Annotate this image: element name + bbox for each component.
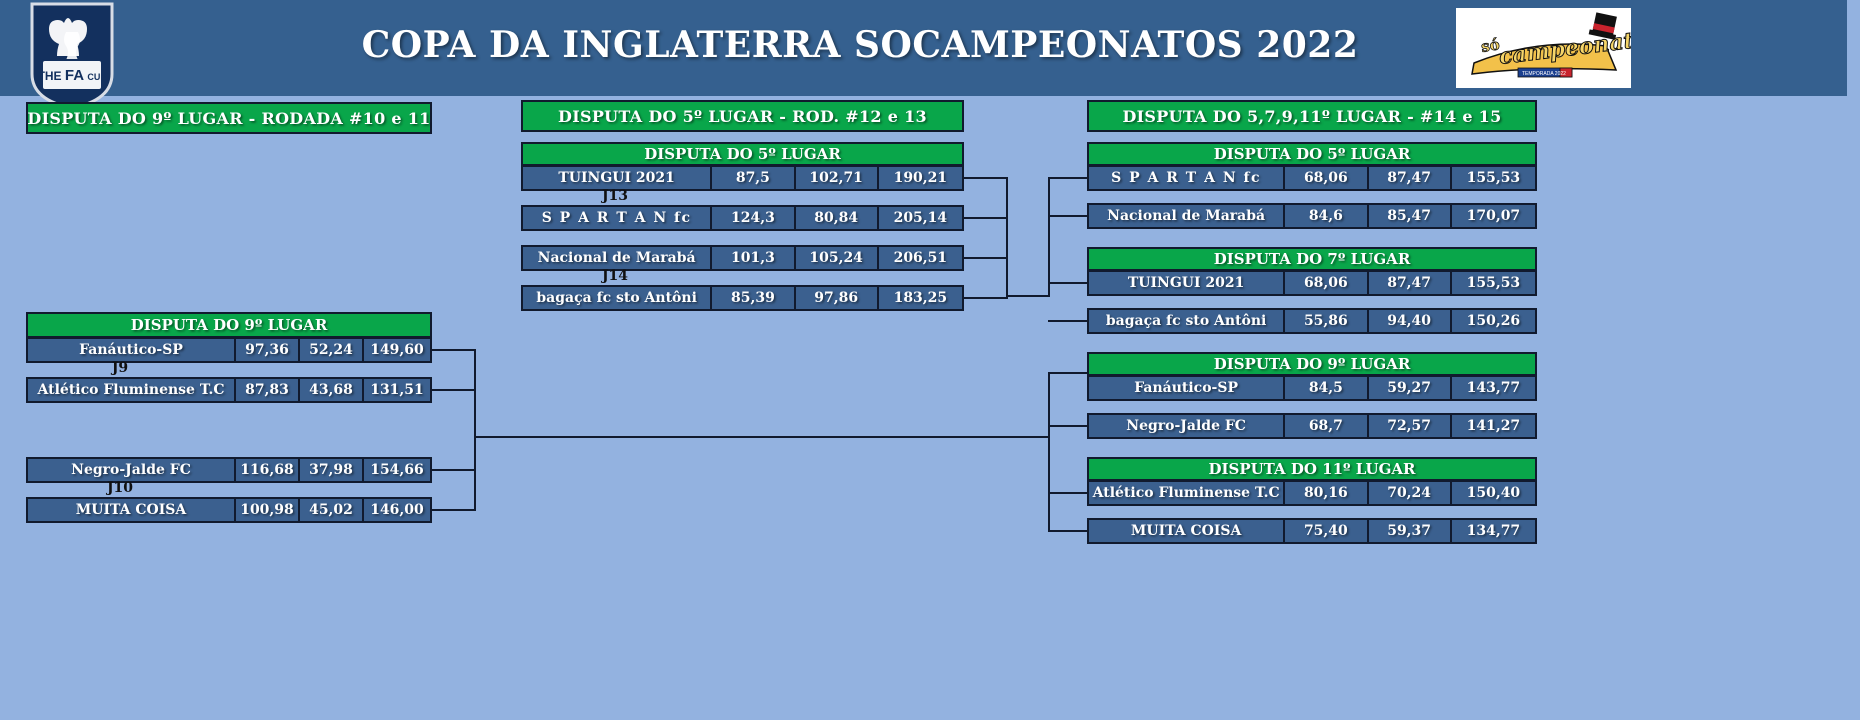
bracket-line — [432, 469, 476, 471]
table-row: TUINGUI 2021 68,06 87,47 155,53 — [1087, 270, 1537, 296]
leg1-score: 80,16 — [1285, 482, 1368, 504]
total-score: 206,51 — [879, 247, 962, 269]
round-label: J10 — [60, 480, 180, 496]
leg2-score: 80,84 — [796, 207, 879, 229]
bracket-line — [1006, 295, 1050, 297]
leg1-score: 87,83 — [236, 379, 300, 401]
table-row: S P A R T A N fc 124,3 80,84 205,14 — [521, 205, 964, 231]
leg2-score: 45,02 — [300, 499, 364, 521]
leg1-score: 84,5 — [1285, 377, 1368, 399]
table-row: S P A R T A N fc 68,06 87,47 155,53 — [1087, 165, 1537, 191]
leg2-score: 97,86 — [796, 287, 879, 309]
svg-text:TEMPORADA 2022: TEMPORADA 2022 — [1522, 71, 1566, 77]
leg2-score: 87,47 — [1369, 272, 1452, 294]
bracket-line — [1006, 197, 1008, 277]
leg2-score: 70,24 — [1369, 482, 1452, 504]
team-name: S P A R T A N fc — [1089, 167, 1285, 189]
bracket-line — [964, 177, 1008, 179]
leg2-score: 94,40 — [1369, 310, 1452, 332]
leg1-score: 124,3 — [712, 207, 795, 229]
bracket-line — [432, 509, 476, 511]
leg2-score: 102,71 — [796, 167, 879, 189]
leg1-score: 68,06 — [1285, 167, 1368, 189]
total-score: 150,40 — [1452, 482, 1535, 504]
table-row: bagaça fc sto Antôni 85,39 97,86 183,25 — [521, 285, 964, 311]
team-name: Negro-Jalde FC — [1089, 415, 1285, 437]
leg1-score: 68,7 — [1285, 415, 1368, 437]
team-name: Atlético Fluminense T.C — [28, 379, 236, 401]
team-name: bagaça fc sto Antôni — [523, 287, 712, 309]
leg1-score: 87,5 — [712, 167, 795, 189]
bracket-line — [432, 349, 476, 351]
section-header-right: DISPUTA DO 5,7,9,11º LUGAR - #14 e 15 — [1087, 100, 1537, 132]
team-name: bagaça fc sto Antôni — [1089, 310, 1285, 332]
bracket-line — [1048, 492, 1088, 494]
socampeonatos-logo: só campeonatos TEMPORADA 2022 — [1456, 8, 1631, 88]
table-row: MUITA COISA 100,98 45,02 146,00 — [26, 497, 432, 523]
total-score: 141,27 — [1452, 415, 1535, 437]
table-row: Atlético Fluminense T.C 87,83 43,68 131,… — [26, 377, 432, 403]
total-score: 155,53 — [1452, 167, 1535, 189]
total-score: 205,14 — [879, 207, 962, 229]
section-header-middle: DISPUTA DO 5º LUGAR - ROD. #12 e 13 — [521, 100, 964, 132]
total-score: 149,60 — [364, 339, 430, 361]
bracket-line — [432, 389, 476, 391]
total-score: 190,21 — [879, 167, 962, 189]
leg1-score: 100,98 — [236, 499, 300, 521]
total-score: 131,51 — [364, 379, 430, 401]
bracket-line — [474, 436, 1048, 438]
fa-cup-logo: THE FA CUP — [28, 2, 116, 110]
bracket-line — [1048, 215, 1088, 217]
table-row: Negro-Jalde FC 68,7 72,57 141,27 — [1087, 413, 1537, 439]
round-label: J9 — [60, 360, 180, 376]
leg2-score: 52,24 — [300, 339, 364, 361]
team-name: Nacional de Marabá — [1089, 205, 1285, 227]
bracket-line — [964, 257, 1008, 259]
team-name: MUITA COISA — [28, 499, 236, 521]
total-score: 183,25 — [879, 287, 962, 309]
team-name: TUINGUI 2021 — [1089, 272, 1285, 294]
page-title: COPA DA INGLATERRA SOCAMPEONATOS 2022 — [330, 24, 1390, 66]
team-name: Fanáutico-SP — [1089, 377, 1285, 399]
bracket-line — [1048, 372, 1050, 532]
right-table-title: DISPUTA DO 7º LUGAR — [1087, 247, 1537, 271]
table-row: Atlético Fluminense T.C 80,16 70,24 150,… — [1087, 480, 1537, 506]
bracket-line — [1048, 177, 1050, 297]
team-name: TUINGUI 2021 — [523, 167, 712, 189]
table-row: Fanáutico-SP 84,5 59,27 143,77 — [1087, 375, 1537, 401]
leg1-score: 85,39 — [712, 287, 795, 309]
left-table-title: DISPUTA DO 9º LUGAR — [26, 312, 432, 338]
leg2-score: 59,27 — [1369, 377, 1452, 399]
total-score: 170,07 — [1452, 205, 1535, 227]
team-name: MUITA COISA — [1089, 520, 1285, 542]
right-table-title: DISPUTA DO 11º LUGAR — [1087, 457, 1537, 481]
leg1-score: 84,6 — [1285, 205, 1368, 227]
leg2-score: 85,47 — [1369, 205, 1452, 227]
round-label: J14 — [555, 268, 675, 284]
total-score: 146,00 — [364, 499, 430, 521]
bracket-page: THE FA CUP COPA DA INGLATERRA SOCAMPEONA… — [0, 0, 1860, 720]
right-table-title: DISPUTA DO 9º LUGAR — [1087, 352, 1537, 376]
leg2-score: 59,37 — [1369, 520, 1452, 542]
bracket-line — [1048, 530, 1088, 532]
leg1-score: 55,86 — [1285, 310, 1368, 332]
leg2-score: 37,98 — [300, 459, 364, 481]
table-row: bagaça fc sto Antôni 55,86 94,40 150,26 — [1087, 308, 1537, 334]
team-name: Negro-Jalde FC — [28, 459, 236, 481]
bracket-line — [1048, 320, 1088, 322]
bracket-line — [964, 297, 1008, 299]
total-score: 155,53 — [1452, 272, 1535, 294]
bracket-line — [474, 369, 476, 489]
table-row: Nacional de Marabá 84,6 85,47 170,07 — [1087, 203, 1537, 229]
leg1-score: 116,68 — [236, 459, 300, 481]
bracket-line — [1048, 425, 1088, 427]
total-score: 150,26 — [1452, 310, 1535, 332]
leg1-score: 101,3 — [712, 247, 795, 269]
total-score: 154,66 — [364, 459, 430, 481]
leg1-score: 68,06 — [1285, 272, 1368, 294]
table-row: MUITA COISA 75,40 59,37 134,77 — [1087, 518, 1537, 544]
leg1-score: 75,40 — [1285, 520, 1368, 542]
bracket-line — [964, 217, 1008, 219]
bracket-line — [1048, 282, 1088, 284]
round-label: J13 — [555, 188, 675, 204]
leg2-score: 43,68 — [300, 379, 364, 401]
bracket-line — [1048, 177, 1088, 179]
right-table-title: DISPUTA DO 5º LUGAR — [1087, 142, 1537, 166]
team-name: Atlético Fluminense T.C — [1089, 482, 1285, 504]
total-score: 143,77 — [1452, 377, 1535, 399]
middle-table-title: DISPUTA DO 5º LUGAR — [521, 142, 964, 166]
leg2-score: 72,57 — [1369, 415, 1452, 437]
team-name: S P A R T A N fc — [523, 207, 712, 229]
team-name: Nacional de Marabá — [523, 247, 712, 269]
team-name: Fanáutico-SP — [28, 339, 236, 361]
right-edge-strip — [1847, 0, 1860, 720]
leg2-score: 105,24 — [796, 247, 879, 269]
bracket-line — [1048, 372, 1088, 374]
leg1-score: 97,36 — [236, 339, 300, 361]
section-header-left: DISPUTA DO 9º LUGAR - RODADA #10 e 11 — [26, 102, 432, 134]
total-score: 134,77 — [1452, 520, 1535, 542]
leg2-score: 87,47 — [1369, 167, 1452, 189]
